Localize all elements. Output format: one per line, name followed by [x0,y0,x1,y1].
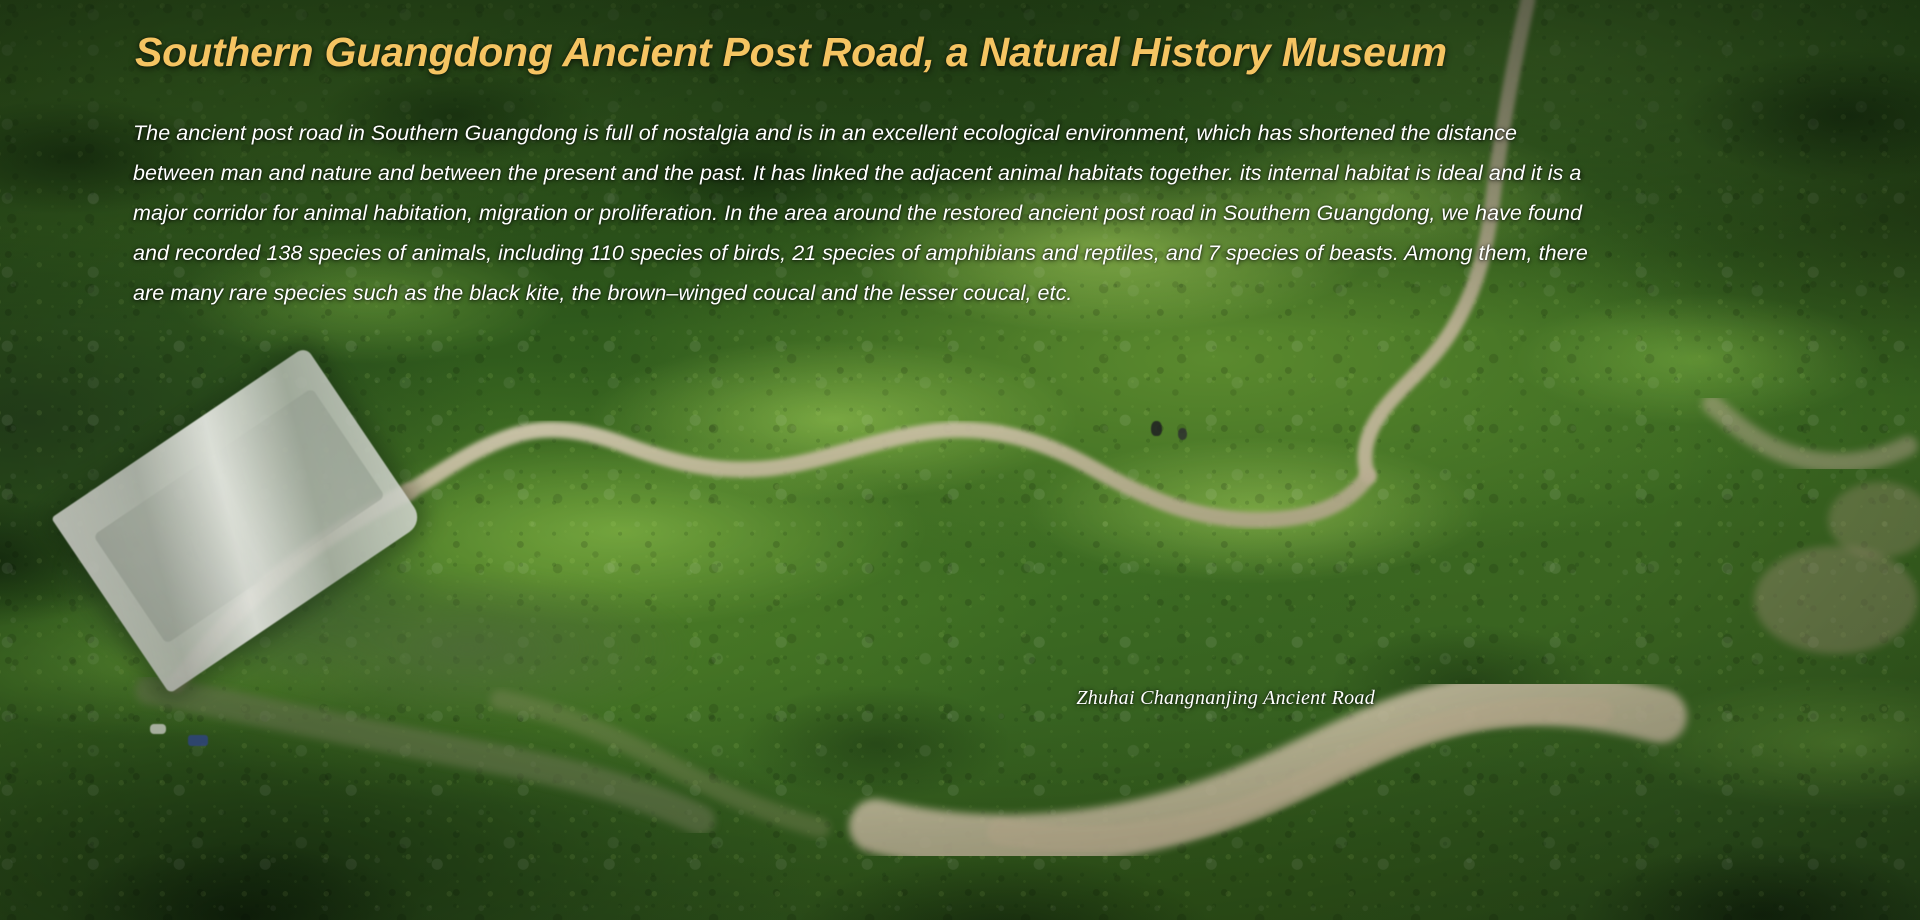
page-title: Southern Guangdong Ancient Post Road, a … [135,30,1835,76]
text-overlay: Southern Guangdong Ancient Post Road, a … [0,0,1920,920]
body-line: are many rare species such as the black … [133,273,1793,313]
body-line: major corridor for animal habitation, mi… [133,193,1793,233]
photo-caption: Zhuhai Changnanjing Ancient Road [1076,687,1375,710]
body-line: between man and nature and between the p… [133,153,1793,193]
poster-page: Southern Guangdong Ancient Post Road, a … [0,0,1920,920]
body-paragraph: The ancient post road in Southern Guangd… [133,113,1793,313]
body-line: and recorded 138 species of animals, inc… [133,233,1793,273]
body-line: The ancient post road in Southern Guangd… [133,113,1793,153]
